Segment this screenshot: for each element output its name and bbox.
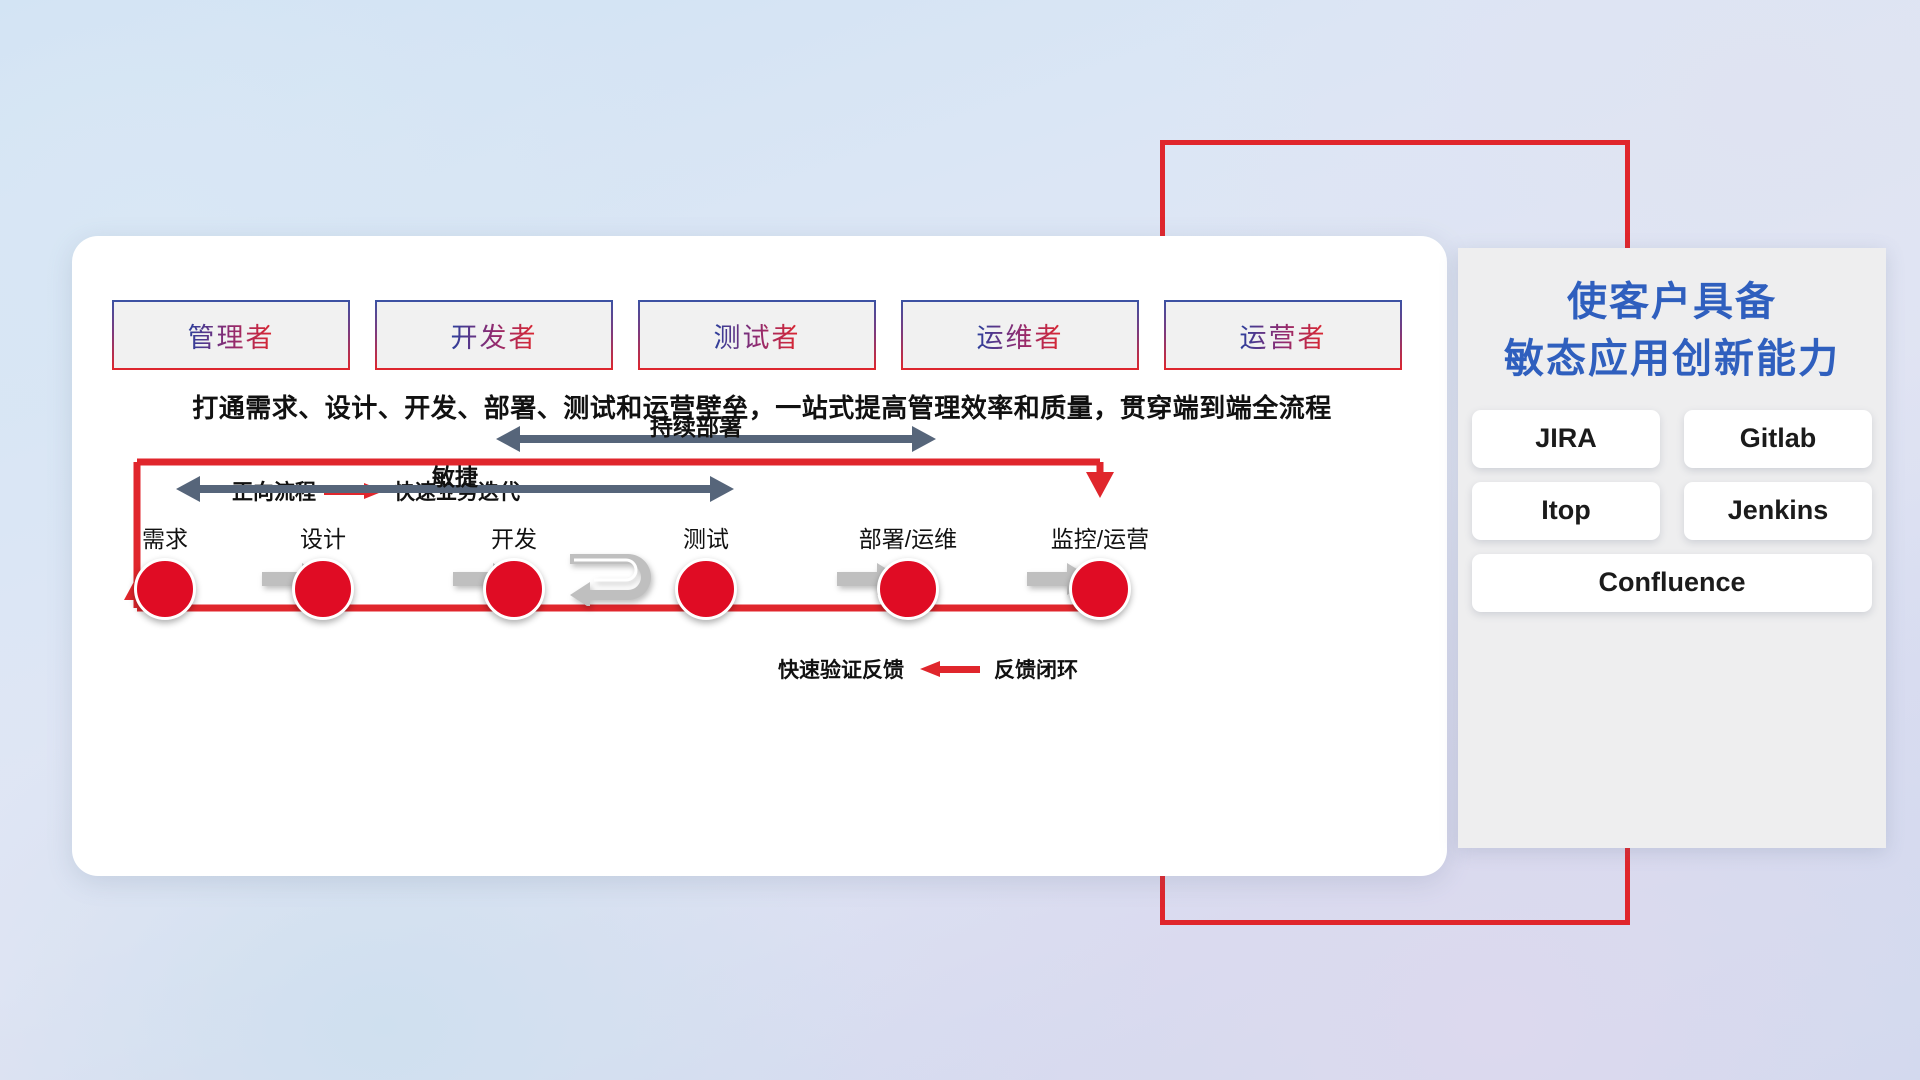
panel-title-line2: 敏态应用创新能力 (1458, 331, 1886, 388)
stage-label: 需求 (105, 520, 225, 554)
devops-pipeline: 需求 设计 开发 测试 部署/运维 (100, 520, 1160, 600)
pipeline-stage-design[interactable]: 设计 (263, 520, 383, 620)
legend-feedback-right-label: 反馈闭环 (994, 654, 1078, 684)
stage-label: 部署/运维 (828, 520, 988, 554)
arrow-head-right-icon (710, 476, 734, 502)
red-arrow-left-icon (918, 661, 980, 677)
stage-dot (292, 558, 354, 620)
role-box-tester[interactable]: 测试者 (638, 300, 876, 370)
panel-title: 使客户具备 敏态应用创新能力 (1458, 248, 1886, 388)
stage-label: 监控/运营 (1020, 520, 1180, 554)
stage-dot (483, 558, 545, 620)
tool-chip-gitlab[interactable]: Gitlab (1684, 410, 1872, 468)
arrow-head-right-icon (912, 426, 936, 452)
stage-dot (675, 558, 737, 620)
stage-label: 开发 (454, 520, 574, 554)
stage-dot (134, 558, 196, 620)
value-proposition-panel: 使客户具备 敏态应用创新能力 JIRA Gitlab Itop Jenkins … (1458, 248, 1886, 848)
role-box-developer[interactable]: 开发者 (375, 300, 613, 370)
arrow-head-left-icon (496, 426, 520, 452)
stage-dot (1069, 558, 1131, 620)
pipeline-stage-monitor-operations[interactable]: 监控/运营 (1020, 520, 1180, 620)
arrow-head-left-icon (176, 476, 200, 502)
role-box-operations[interactable]: 运营者 (1164, 300, 1402, 370)
role-box-manager[interactable]: 管理者 (112, 300, 350, 370)
description-text: 打通需求、设计、开发、部署、测试和运营壁垒，一站式提高管理效率和质量，贯穿端到端… (112, 388, 1412, 425)
role-box-ops[interactable]: 运维者 (901, 300, 1139, 370)
agile-caption: 敏捷 (432, 458, 478, 492)
slide-canvas: 管理者 开发者 测试者 运维者 运营者 打通需求、设计、开发、部署、测试和运营壁… (0, 0, 1920, 1080)
legend-feedback-loop: 快速验证反馈 反馈闭环 (778, 654, 1078, 684)
role-box-row: 管理者 开发者 测试者 运维者 运营者 (112, 300, 1402, 370)
iterate-loop-arrow-icon (570, 554, 656, 606)
pipeline-stage-testing[interactable]: 测试 (646, 520, 766, 620)
role-label: 运维者 (977, 316, 1064, 355)
pipeline-stage-deploy-ops[interactable]: 部署/运维 (828, 520, 988, 620)
continuous-deployment-caption: 持续部署 (650, 408, 742, 442)
tool-chip-jira[interactable]: JIRA (1472, 410, 1660, 468)
tool-chip-list: JIRA Gitlab Itop Jenkins Confluence (1472, 410, 1872, 612)
stage-label: 设计 (263, 520, 383, 554)
role-label: 运营者 (1240, 316, 1327, 355)
pipeline-stage-development[interactable]: 开发 (454, 520, 574, 620)
stage-dot (877, 558, 939, 620)
tool-chip-itop[interactable]: Itop (1472, 482, 1660, 540)
legend-feedback-left-label: 快速验证反馈 (778, 654, 904, 684)
stage-label: 测试 (646, 520, 766, 554)
role-label: 开发者 (451, 316, 538, 355)
role-label: 管理者 (188, 316, 275, 355)
tool-chip-confluence[interactable]: Confluence (1472, 554, 1872, 612)
role-label: 测试者 (714, 316, 801, 355)
panel-title-line1: 使客户具备 (1458, 274, 1886, 331)
pipeline-stage-requirement[interactable]: 需求 (105, 520, 225, 620)
tool-chip-jenkins[interactable]: Jenkins (1684, 482, 1872, 540)
